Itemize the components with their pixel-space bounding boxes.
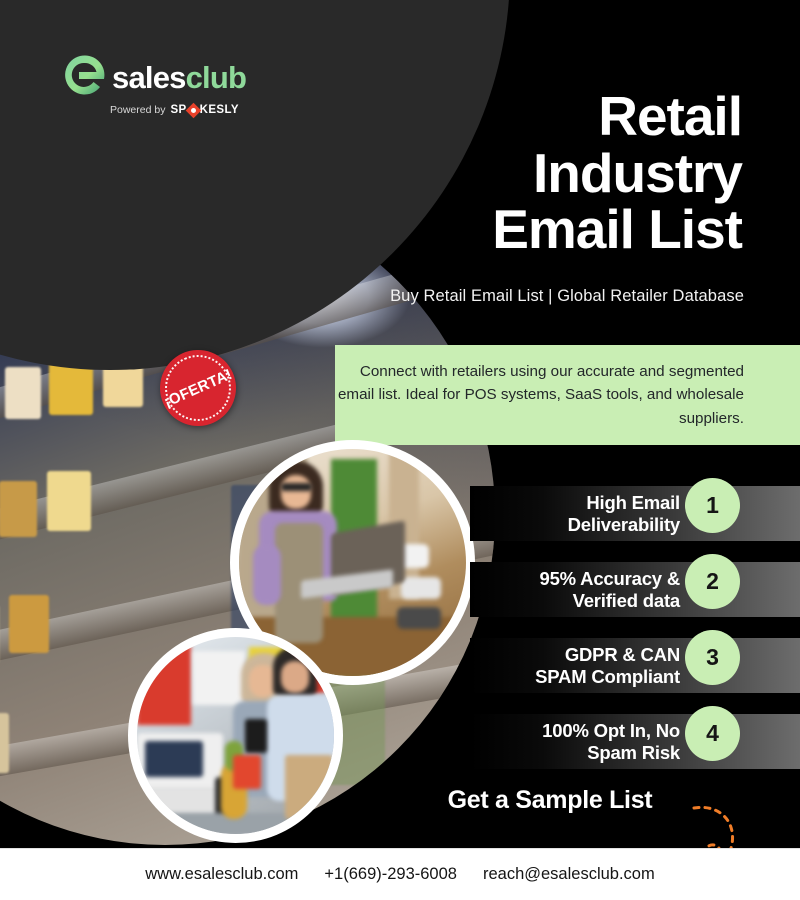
- partner-text-suffix: KESLY: [200, 104, 239, 116]
- footer-website[interactable]: www.esalesclub.com: [145, 865, 298, 884]
- logo-text-club: club: [186, 60, 247, 95]
- oferta-badge-label: ¡OFERTA!: [161, 365, 235, 410]
- feature-number-1: 1: [685, 478, 740, 533]
- e-mark-icon: [62, 52, 108, 103]
- poster-canvas: salesclub Powered by SP KESLY Retail Ind…: [0, 0, 800, 900]
- page-subtitle: Buy Retail Email List | Global Retailer …: [224, 287, 744, 306]
- footer-email[interactable]: reach@esalesclub.com: [483, 865, 655, 884]
- powered-by-row: Powered by SP KESLY: [110, 104, 246, 116]
- feature-label-4-line1: 100% Opt In, No: [542, 720, 680, 741]
- feature-number-2: 2: [685, 554, 740, 609]
- feature-label-2: 95% Accuracy & Verified data: [440, 568, 680, 611]
- powered-by-label: Powered by: [110, 104, 165, 116]
- feature-label-1: High Email Deliverability: [440, 492, 680, 535]
- description-text: Connect with retailers using our accurat…: [335, 360, 800, 429]
- feature-number-4: 4: [685, 706, 740, 761]
- diamond-o-icon: [185, 102, 201, 118]
- inset-photo-checkout: [128, 628, 343, 843]
- feature-label-1-line2: Deliverability: [568, 514, 680, 535]
- page-title: Retail Industry Email List: [312, 88, 742, 258]
- partner-logo: SP KESLY: [170, 104, 238, 116]
- feature-label-4: 100% Opt In, No Spam Risk: [440, 720, 680, 763]
- partner-text-prefix: SP: [170, 104, 186, 116]
- brand-logo[interactable]: salesclub Powered by SP KESLY: [62, 52, 246, 116]
- feature-label-3-line1: GDPR & CAN: [565, 644, 680, 665]
- footer-phone[interactable]: +1(669)-293-6008: [324, 865, 457, 884]
- footer-contact-bar: www.esalesclub.com +1(669)-293-6008 reac…: [0, 848, 800, 900]
- feature-bar-2[interactable]: 95% Accuracy & Verified data 2: [470, 562, 800, 617]
- feature-label-3-line2: SPAM Compliant: [535, 666, 680, 687]
- cta-label[interactable]: Get a Sample List: [400, 786, 700, 815]
- feature-label-3: GDPR & CAN SPAM Compliant: [440, 644, 680, 687]
- title-line-2: Industry: [312, 145, 742, 202]
- feature-label-4-line2: Spam Risk: [587, 742, 680, 763]
- title-line-1: Retail: [312, 88, 742, 145]
- title-line-3: Email List: [312, 201, 742, 258]
- feature-number-3: 3: [685, 630, 740, 685]
- feature-bar-3[interactable]: GDPR & CAN SPAM Compliant 3: [470, 638, 800, 693]
- feature-bar-4[interactable]: 100% Opt In, No Spam Risk 4: [470, 714, 800, 769]
- logo-text-sales: sales: [112, 60, 186, 95]
- feature-label-2-line2: Verified data: [573, 590, 680, 611]
- feature-label-2-line1: 95% Accuracy &: [540, 568, 681, 589]
- feature-label-1-line1: High Email: [586, 492, 680, 513]
- description-box: Connect with retailers using our accurat…: [335, 345, 800, 445]
- feature-bar-1[interactable]: High Email Deliverability 1: [470, 486, 800, 541]
